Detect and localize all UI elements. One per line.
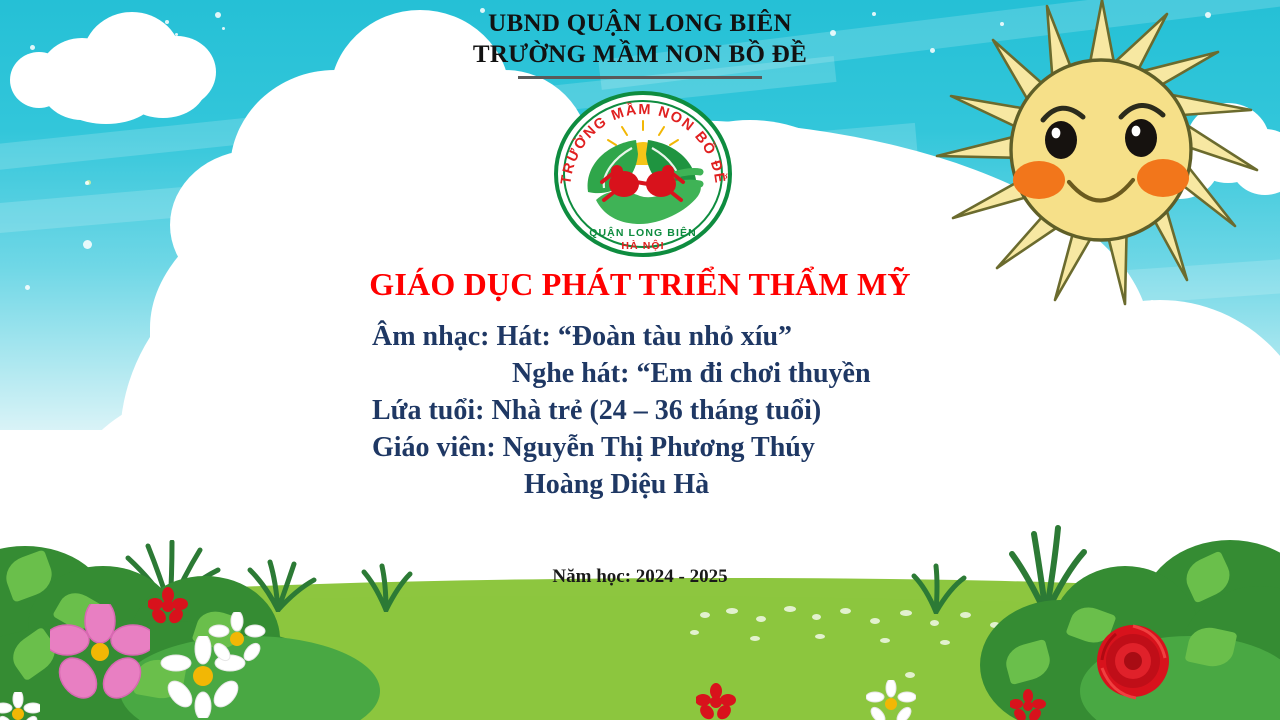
lesson-line-listen: Nghe hát: “Em đi chơi thuyền xyxy=(372,355,992,392)
daisy-icon xyxy=(866,680,916,720)
grass-speck xyxy=(784,606,796,612)
small-red-flower-icon xyxy=(148,586,188,624)
lesson-line-teacher-2: Hoàng Diệu Hà xyxy=(372,466,992,503)
grass-speck xyxy=(750,636,760,641)
grass-speck xyxy=(905,672,915,678)
grass-speck xyxy=(690,630,699,635)
lesson-line-music: Âm nhạc: Hát: “Đoàn tàu nhỏ xíu” xyxy=(372,318,992,355)
header-line-2: TRƯỜNG MẦM NON BỒ ĐỀ xyxy=(0,39,1280,70)
grass-speck xyxy=(870,618,880,624)
page-title: GIÁO DỤC PHÁT TRIỂN THẨM MỸ xyxy=(0,266,1280,303)
grass-speck xyxy=(726,608,738,614)
sparkle-dot xyxy=(83,240,92,249)
grass-speck xyxy=(940,640,950,645)
grass-speck xyxy=(700,612,710,618)
logo-bottom-text-1: QUẬN LONG BIÊN xyxy=(589,226,697,239)
school-logo-icon: TRƯỜNG MẦM NON BỒ ĐỀ xyxy=(548,88,738,260)
pink-flower-icon xyxy=(50,604,150,700)
grass-speck xyxy=(756,616,766,622)
daisy-icon xyxy=(208,612,266,668)
daisy-icon xyxy=(0,692,40,720)
grass-speck xyxy=(930,620,939,626)
school-year-label: Năm học: 2024 - 2025 xyxy=(0,566,1280,588)
lesson-line-age: Lứa tuổi: Nhà trẻ (24 – 36 tháng tuổi) xyxy=(372,392,992,429)
rose-icon xyxy=(1088,616,1178,706)
sparkle-dot xyxy=(85,181,89,185)
slide-canvas: UBND QUẬN LONG BIÊN TRƯỜNG MẦM NON BỒ ĐỀ… xyxy=(0,0,1280,720)
header-block: UBND QUẬN LONG BIÊN TRƯỜNG MẦM NON BỒ ĐỀ xyxy=(0,8,1280,79)
small-red-flower-icon xyxy=(1010,688,1046,720)
lesson-info-block: Âm nhạc: Hát: “Đoàn tàu nhỏ xíu” Nghe há… xyxy=(372,318,992,503)
header-divider xyxy=(518,76,762,79)
lesson-line-teacher: Giáo viên: Nguyễn Thị Phương Thúy xyxy=(372,429,992,466)
header-line-1: UBND QUẬN LONG BIÊN xyxy=(0,8,1280,39)
grass-speck xyxy=(880,638,890,643)
logo-bottom-text-2: HÀ NỘI xyxy=(621,239,664,252)
grass-speck xyxy=(840,608,851,614)
small-red-flower-icon xyxy=(696,682,736,720)
grass-speck xyxy=(812,614,821,620)
grass-speck xyxy=(815,634,825,639)
